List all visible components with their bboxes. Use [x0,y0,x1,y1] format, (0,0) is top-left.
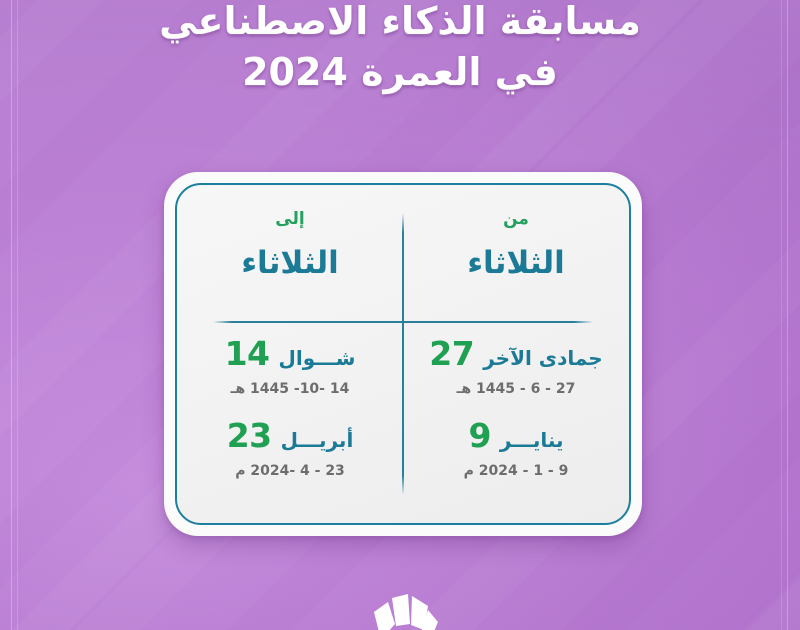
date-range-card-inner: من الثلاثاء جمادى الآخر 27 27 - 6 - 1445… [175,183,631,525]
date-range-card: من الثلاثاء جمادى الآخر 27 27 - 6 - 1445… [164,172,642,536]
gregorian-day-to: 23 [227,419,272,452]
hijri-date-from: جمادى الآخر 27 [429,337,602,370]
gregorian-day-from: 9 [468,419,490,452]
gregorian-full-from: 9 - 1 - 2024 م [464,463,569,479]
date-column-from-header: من الثلاثاء [467,185,565,321]
title-line-1: مسابقة الذكاء الاصطناعي [0,0,800,47]
date-column-to-body: شـــوال 14 14 -10- 1445 هـ أبريـــل 23 2… [177,321,403,523]
weekday-from: الثلاثاء [467,248,565,279]
date-column-to: إلى الثلاثاء شـــوال 14 14 -10- 1445 هـ … [177,185,403,523]
date-column-from-body: جمادى الآخر 27 27 - 6 - 1445 هـ ينايـــر… [403,321,629,523]
hijri-date-to: شـــوال 14 [225,337,356,370]
fan-logo-icon [340,578,460,630]
hijri-month-from: جمادى الآخر [483,348,603,368]
hijri-full-to: 14 -10- 1445 هـ [231,381,350,397]
weekday-to: الثلاثاء [241,248,339,279]
date-column-from: من الثلاثاء جمادى الآخر 27 27 - 6 - 1445… [403,185,629,523]
poster-canvas: مسابقة الذكاء الاصطناعي في العمرة 2024 م… [0,0,800,630]
range-label-from: من [503,211,529,228]
gregorian-date-from: ينايـــر 9 [468,419,563,452]
vertical-divider [402,213,404,495]
hijri-full-from: 27 - 6 - 1445 هـ [457,381,576,397]
hijri-day-to: 14 [225,337,270,370]
gregorian-full-to: 23 - 4 -2024 م [235,463,345,479]
date-column-to-header: إلى الثلاثاء [241,185,339,321]
title-line-2: في العمرة 2024 [0,47,800,98]
range-label-to: إلى [275,211,304,228]
hijri-day-from: 27 [429,337,474,370]
gregorian-month-from: ينايـــر [500,430,564,450]
poster-title: مسابقة الذكاء الاصطناعي في العمرة 2024 [0,0,800,98]
hijri-month-to: شـــوال [279,348,356,368]
gregorian-date-to: أبريـــل 23 [227,419,354,452]
gregorian-month-to: أبريـــل [281,430,354,450]
